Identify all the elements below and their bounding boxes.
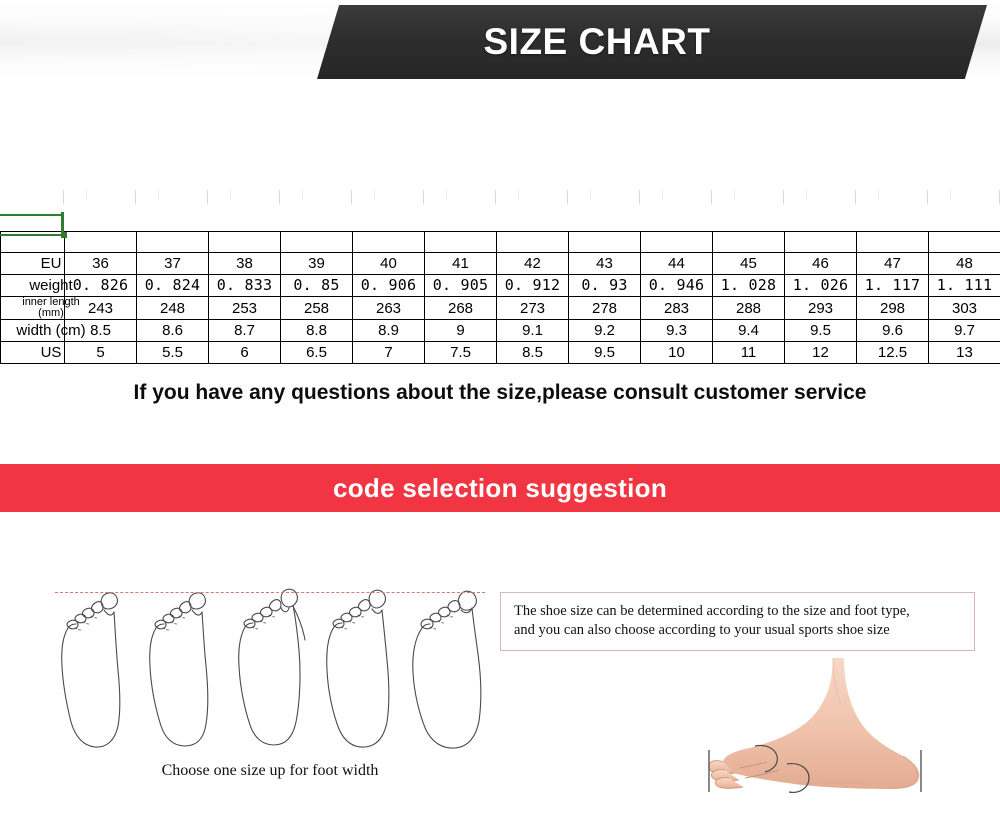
- table-cell: 1. 117: [857, 275, 929, 297]
- gridline-tick: [374, 190, 375, 200]
- toe-alignment-guide-line: [55, 592, 485, 593]
- table-cell: 10: [641, 342, 713, 364]
- table-cell: 40: [353, 253, 425, 275]
- table-cell: 8.6: [137, 320, 209, 342]
- table-cell: 7: [353, 342, 425, 364]
- table-cell: 263: [353, 297, 425, 320]
- table-cell: 9.4: [713, 320, 785, 342]
- table-row-label: weight: [1, 275, 65, 297]
- table-cell-blank: [209, 232, 281, 253]
- table-cell: 288: [713, 297, 785, 320]
- cell-selection-highlight: [0, 214, 64, 236]
- table-cell-blank: [569, 232, 641, 253]
- table-cell: 11: [713, 342, 785, 364]
- foot-side-view-illustration: [695, 652, 995, 816]
- page-title: SIZE CHART: [317, 5, 877, 79]
- hero-banner-area: Moto sta tus SIZE CHART: [0, 0, 1000, 92]
- table-cell: 0. 946: [641, 275, 713, 297]
- gridline-tick: [783, 190, 784, 204]
- table-cell: 258: [281, 297, 353, 320]
- gridline-tick: [518, 190, 519, 200]
- spreadsheet-gridline-ticks: [0, 190, 1000, 232]
- table-cell: 1. 028: [713, 275, 785, 297]
- table-cell: 9: [425, 320, 497, 342]
- table-row-label: US: [1, 342, 65, 364]
- table-cell-blank: [857, 232, 929, 253]
- table-cell-blank: [281, 232, 353, 253]
- table-cell: 12.5: [857, 342, 929, 364]
- table-cell: 9.6: [857, 320, 929, 342]
- foot-outlines-illustration: [45, 570, 495, 770]
- table-cell: 0. 905: [425, 275, 497, 297]
- table-row: US55.566.577.58.59.510111212.513: [1, 342, 1000, 364]
- gridline-tick: [806, 190, 807, 200]
- row-label-line: (mm): [0, 308, 111, 319]
- table-cell: 46: [785, 253, 857, 275]
- table-cell: 6: [209, 342, 281, 364]
- table-cell: 248: [137, 297, 209, 320]
- gridline-tick: [279, 190, 280, 204]
- size-chart-table: EU36373839404142434445464748weight0. 826…: [0, 231, 1000, 364]
- table-cell: 9.1: [497, 320, 569, 342]
- gridline-tick: [86, 190, 87, 200]
- code-selection-banner-label: code selection suggestion: [333, 473, 667, 504]
- table-cell: 39: [281, 253, 353, 275]
- table-cell-blank: [65, 232, 137, 253]
- table-spacer-row: [1, 232, 1000, 253]
- table-cell-blank: [353, 232, 425, 253]
- gridline-tick: [135, 190, 136, 204]
- gridline-tick: [950, 190, 951, 200]
- table-row: EU36373839404142434445464748: [1, 253, 1000, 275]
- table-cell: 9.7: [929, 320, 1000, 342]
- table-cell: 43: [569, 253, 641, 275]
- gridline-tick: [662, 190, 663, 200]
- gridline-tick: [63, 190, 64, 204]
- table-cell: 9.5: [569, 342, 641, 364]
- table-cell: 8.9: [353, 320, 425, 342]
- table-row-label: inner length(mm): [1, 297, 65, 320]
- consult-customer-service-note: If you have any questions about the size…: [0, 381, 1000, 405]
- size-table-container: EU36373839404142434445464748weight0. 826…: [0, 231, 1000, 364]
- table-cell: 8.5: [497, 342, 569, 364]
- gridline-tick: [423, 190, 424, 204]
- table-row: width (cm)8.58.68.78.88.999.19.29.39.49.…: [1, 320, 1000, 342]
- table-cell: 7.5: [425, 342, 497, 364]
- table-cell: 0. 824: [137, 275, 209, 297]
- size-determination-note-box: The shoe size can be determined accordin…: [500, 592, 975, 651]
- gridline-tick: [734, 190, 735, 200]
- table-cell: 9.5: [785, 320, 857, 342]
- note-line-2: and you can also choose according to you…: [514, 621, 963, 640]
- table-cell: 298: [857, 297, 929, 320]
- note-line-1: The shoe size can be determined accordin…: [514, 602, 963, 621]
- table-cell-blank: [641, 232, 713, 253]
- foot-width-diagram: [45, 570, 495, 770]
- table-row-label: EU: [1, 253, 65, 275]
- gridline-tick: [158, 190, 159, 200]
- gridline-tick: [639, 190, 640, 204]
- table-cell-blank: [713, 232, 785, 253]
- gridline-tick: [302, 190, 303, 200]
- table-cell: 47: [857, 253, 929, 275]
- gridline-tick: [230, 190, 231, 200]
- table-cell: 0. 912: [497, 275, 569, 297]
- table-cell: 37: [137, 253, 209, 275]
- table-cell: 0. 906: [353, 275, 425, 297]
- table-cell: 38: [209, 253, 281, 275]
- table-cell: 12: [785, 342, 857, 364]
- table-row: weight0. 8260. 8240. 8330. 850. 9060. 90…: [1, 275, 1000, 297]
- table-cell: 8.8: [281, 320, 353, 342]
- table-cell-blank: [785, 232, 857, 253]
- table-cell: 6.5: [281, 342, 353, 364]
- table-cell: 0. 93: [569, 275, 641, 297]
- table-cell-blank: [425, 232, 497, 253]
- table-cell: 293: [785, 297, 857, 320]
- table-cell: 303: [929, 297, 1000, 320]
- code-selection-banner: code selection suggestion: [0, 464, 1000, 512]
- table-cell: 253: [209, 297, 281, 320]
- gridline-tick: [878, 190, 879, 200]
- table-cell: 9.2: [569, 320, 641, 342]
- table-cell: 0. 85: [281, 275, 353, 297]
- table-cell: 44: [641, 253, 713, 275]
- table-cell: 5.5: [137, 342, 209, 364]
- table-cell: 13: [929, 342, 1000, 364]
- gridline-tick: [927, 190, 928, 204]
- table-cell: 8.7: [209, 320, 281, 342]
- table-cell: 42: [497, 253, 569, 275]
- table-cell: 273: [497, 297, 569, 320]
- table-cell: 48: [929, 253, 1000, 275]
- table-cell: 283: [641, 297, 713, 320]
- table-cell: 41: [425, 253, 497, 275]
- table-cell: 1. 111: [929, 275, 1000, 297]
- gridline-tick: [590, 190, 591, 200]
- table-cell: 278: [569, 297, 641, 320]
- table-cell: 1. 026: [785, 275, 857, 297]
- gridline-tick: [711, 190, 712, 204]
- gridline-tick: [495, 190, 496, 204]
- table-cell: 9.3: [641, 320, 713, 342]
- table-cell: 0. 833: [209, 275, 281, 297]
- gridline-tick: [207, 190, 208, 204]
- gridline-tick: [351, 190, 352, 204]
- table-cell-blank: [497, 232, 569, 253]
- table-cell-blank: [137, 232, 209, 253]
- table-row: inner length(mm)243248253258263268273278…: [1, 297, 1000, 320]
- foot-width-caption: Choose one size up for foot width: [45, 762, 495, 780]
- gridline-tick: [567, 190, 568, 204]
- table-cell: 268: [425, 297, 497, 320]
- table-row-label: width (cm): [1, 320, 65, 342]
- gridline-tick: [446, 190, 447, 200]
- table-cell: 45: [713, 253, 785, 275]
- gridline-tick: [855, 190, 856, 204]
- cell-selection-handle: [61, 212, 64, 234]
- table-cell-blank: [929, 232, 1000, 253]
